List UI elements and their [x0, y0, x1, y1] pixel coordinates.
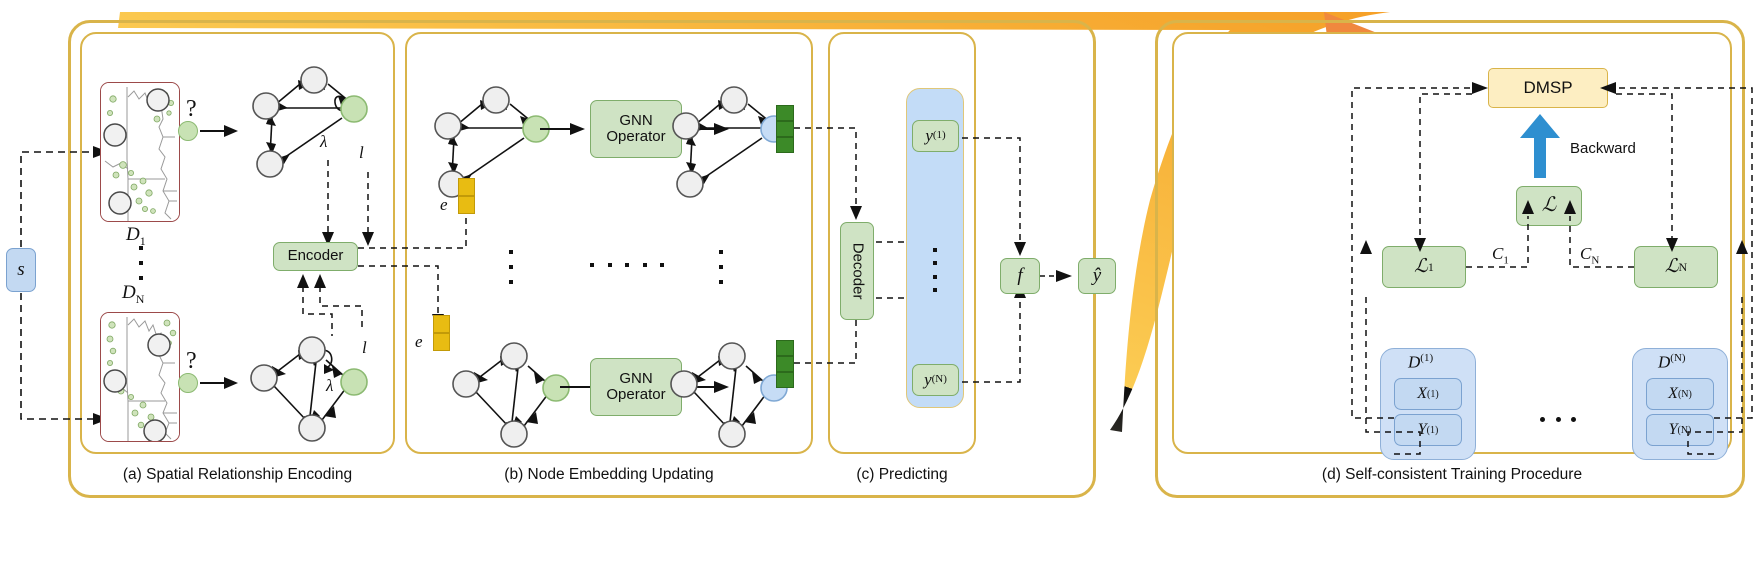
panel-b-center-ellipsis — [590, 262, 664, 268]
edge-feature-vector-top — [458, 178, 475, 214]
map-card-1 — [100, 82, 180, 222]
map-1-target-node — [178, 121, 198, 141]
prediction-yhat-box: ŷ — [1078, 258, 1116, 294]
map-1-arrow — [200, 122, 240, 142]
caption-panel-d: (d) Self-consistent Training Procedure — [1172, 466, 1732, 484]
caption-panel-a: (a) Spatial Relationship Encoding — [80, 466, 395, 484]
caption-panel-c: (c) Predicting — [820, 466, 984, 484]
aggregator-to-prediction-arrow — [1040, 266, 1080, 288]
panel-d-wiring — [1172, 32, 1732, 462]
edge-feature-label-bottom: e — [415, 332, 423, 352]
map-card-n — [100, 312, 180, 442]
graph-to-gnn-arrow-top — [540, 120, 588, 140]
map-label-n: DN — [122, 282, 144, 307]
output-y-n: y(N) — [912, 364, 959, 396]
panel-b-right-ellipsis — [718, 250, 724, 284]
aggregator-f-box: f — [1000, 258, 1040, 294]
panel-a-ellipsis — [138, 246, 144, 280]
figure-canvas: s — [0, 0, 1758, 568]
map-n-arrow — [200, 374, 240, 394]
graph-b-input-bottom — [440, 326, 580, 446]
caption-panel-b: (b) Node Embedding Updating — [405, 466, 813, 484]
graph-b-input-top — [420, 82, 560, 207]
edge-feature-label-top: e — [440, 195, 448, 215]
encoder-box[interactable]: Encoder — [273, 242, 358, 271]
panel-c-ellipsis — [932, 248, 938, 292]
map-n-target-node — [178, 373, 198, 393]
edge-label-lambda-bottom: λ — [326, 376, 333, 396]
map-n-question-mark: ? — [186, 348, 197, 375]
map-1-question-mark: ? — [186, 96, 197, 123]
decoder-box[interactable]: Decoder — [840, 222, 874, 320]
edge-label-lambda-top: λ — [320, 132, 327, 152]
panel-b-left-ellipsis — [508, 250, 514, 284]
output-y-1: y(1) — [912, 120, 959, 152]
